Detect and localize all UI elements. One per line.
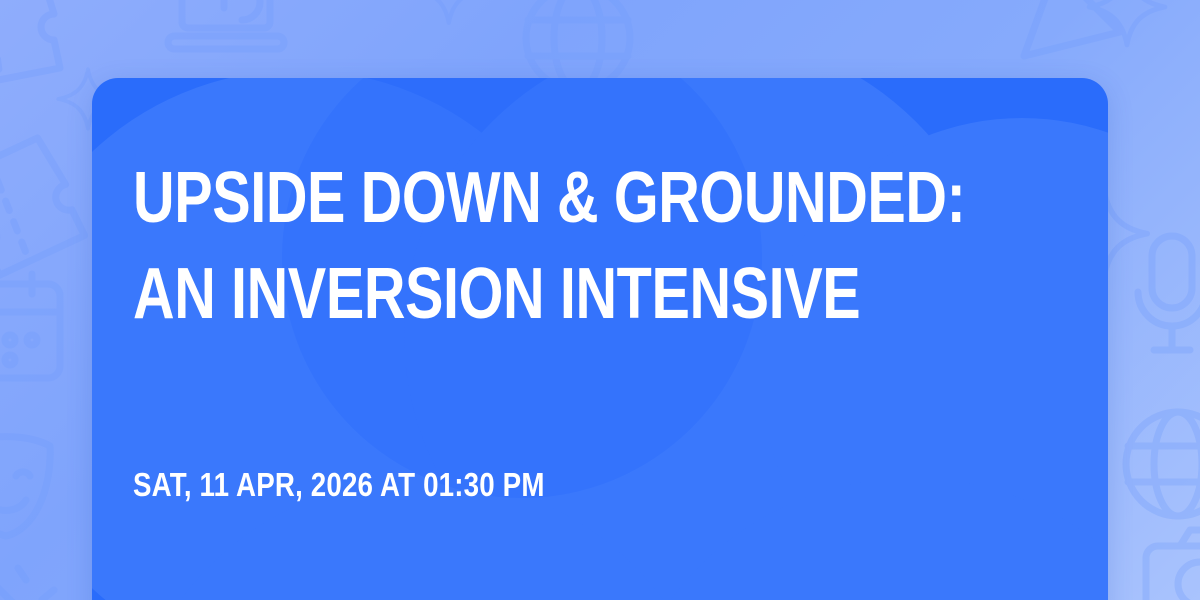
event-card[interactable]: Upside Down & Grounded: An Inversion Int… xyxy=(92,78,1108,600)
event-date: Sat, 11 Apr, 2026 at 01:30 PM xyxy=(133,464,545,506)
event-title: Upside Down & Grounded: An Inversion Int… xyxy=(133,150,993,342)
card-content: Upside Down & Grounded: An Inversion Int… xyxy=(133,78,1033,600)
